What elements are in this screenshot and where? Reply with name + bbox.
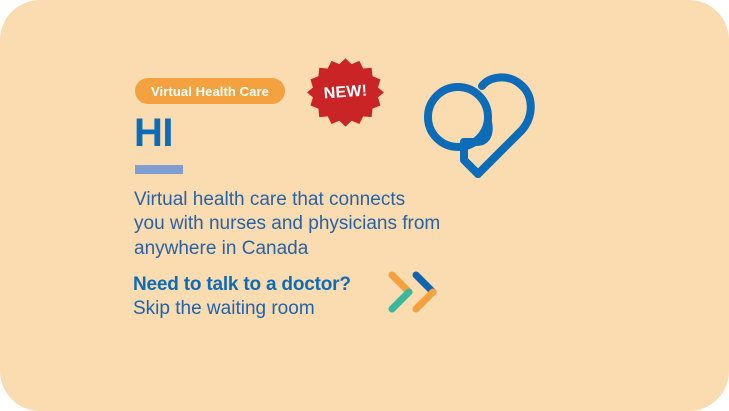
cta-headline: Need to talk to a doctor? (133, 273, 413, 297)
heart-speech-bubble-icon (416, 64, 540, 182)
heart-speech-bubble-logo (416, 64, 540, 182)
double-chevron-right-icon[interactable] (388, 268, 442, 316)
cta-subline: Skip the waiting room (133, 297, 413, 321)
new-badge-label: NEW! (303, 50, 387, 134)
page-title: HI (134, 113, 173, 153)
category-pill-label: Virtual Health Care (151, 85, 269, 98)
title-underline-rule (135, 165, 183, 174)
category-pill: Virtual Health Care (135, 78, 285, 104)
body-copy: Virtual health care that connects you wi… (134, 188, 534, 261)
cta-block: Need to talk to a doctor? Skip the waiti… (133, 273, 413, 321)
new-badge: NEW! (306, 53, 385, 132)
double-chevron-right-glyph (388, 268, 442, 316)
promo-card: Virtual Health Care NEW! HI Virtual heal… (0, 0, 729, 411)
